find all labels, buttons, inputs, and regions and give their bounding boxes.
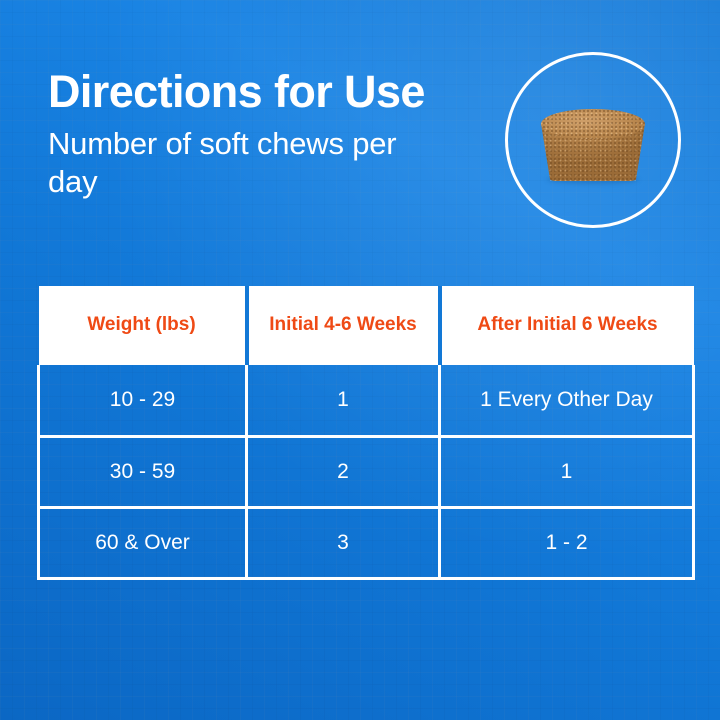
cell-weight: 60 & Over <box>39 507 247 578</box>
heading-block: Directions for Use Number of soft chews … <box>48 68 468 200</box>
table-header: Weight (lbs) Initial 4-6 Weeks After Ini… <box>39 286 694 365</box>
soft-chew-icon <box>541 105 645 181</box>
directions-for-use-poster: Directions for Use Number of soft chews … <box>0 0 720 720</box>
product-image-circle <box>505 52 681 228</box>
page-title: Directions for Use <box>48 68 468 116</box>
column-header-after-initial-weeks: After Initial 6 Weeks <box>440 286 694 365</box>
column-header-weight: Weight (lbs) <box>39 286 247 365</box>
dosage-table: Weight (lbs) Initial 4-6 Weeks After Ini… <box>37 286 695 580</box>
table-row: 10 - 29 1 1 Every Other Day <box>39 365 694 436</box>
cell-after: 1 - 2 <box>440 507 694 578</box>
cell-after: 1 Every Other Day <box>440 365 694 436</box>
column-header-initial-weeks: Initial 4-6 Weeks <box>247 286 440 365</box>
cell-after: 1 <box>440 436 694 507</box>
cell-initial: 2 <box>247 436 440 507</box>
cell-weight: 30 - 59 <box>39 436 247 507</box>
table-row: 30 - 59 2 1 <box>39 436 694 507</box>
table-header-row: Weight (lbs) Initial 4-6 Weeks After Ini… <box>39 286 694 365</box>
table-row: 60 & Over 3 1 - 2 <box>39 507 694 578</box>
cell-initial: 1 <box>247 365 440 436</box>
chew-top-surface <box>541 109 645 139</box>
cell-initial: 3 <box>247 507 440 578</box>
page-subtitle: Number of soft chews per day <box>48 125 408 201</box>
table-body: 10 - 29 1 1 Every Other Day 30 - 59 2 1 … <box>39 365 694 578</box>
cell-weight: 10 - 29 <box>39 365 247 436</box>
